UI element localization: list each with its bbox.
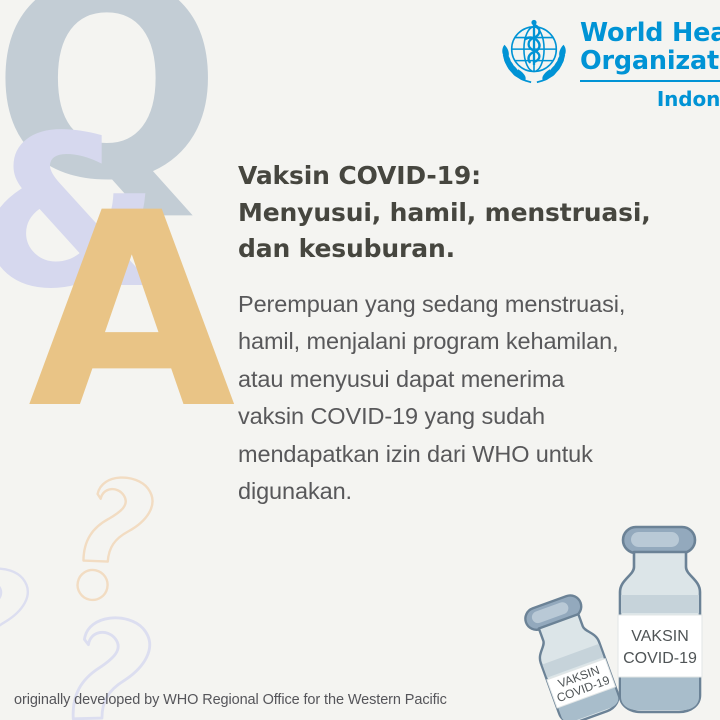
- question-mark-icon: [75, 472, 157, 608]
- qa-decoration: Q & A: [0, 0, 260, 430]
- vial-large-label-line1: VAKSIN: [631, 628, 689, 645]
- headline-line3: dan kesuburan.: [238, 231, 678, 268]
- who-wordmark: World Health Organization Indonesia: [580, 16, 720, 111]
- who-name-line1: World Health: [580, 20, 720, 48]
- copy-block: Vaksin COVID-19: Menyusui, hamil, menstr…: [238, 158, 678, 511]
- logo-divider: [580, 80, 720, 82]
- vial-small-label-line2: COVID-19: [555, 673, 612, 705]
- decorative-letter-ampersand: &: [0, 108, 161, 318]
- question-mark-decoration: [0, 455, 218, 720]
- body-text: Perempuan yang sedang menstruasi, hamil,…: [238, 286, 678, 512]
- decorative-letter-q: Q: [0, 0, 222, 218]
- page-title: Vaksin COVID-19: Menyusui, hamil, menstr…: [238, 158, 678, 268]
- body-line2: hamil, menjalani program kehamilan,: [238, 323, 678, 361]
- question-mark-icon: [0, 564, 31, 699]
- body-line1: Perempuan yang sedang menstruasi,: [238, 286, 678, 324]
- body-line3: atau menyusui dapat menerima: [238, 361, 678, 399]
- body-line6: digunakan.: [238, 473, 678, 511]
- who-logo: World Health Organization Indonesia: [498, 16, 720, 111]
- vaccine-vials-illustration: VAKSIN COVID-19 VAKSIN COVID-19: [505, 515, 720, 720]
- who-emblem-icon: [498, 16, 570, 88]
- footer-credit: originally developed by WHO Regional Off…: [14, 692, 447, 708]
- body-line5: mendapatkan izin dari WHO untuk: [238, 436, 678, 474]
- decorative-letter-a: A: [28, 178, 235, 446]
- body-line4: vaksin COVID-19 yang sudah: [238, 398, 678, 436]
- headline-line1: Vaksin COVID-19:: [238, 158, 678, 195]
- vaccine-vial-large: VAKSIN COVID-19: [618, 527, 702, 712]
- who-country-label: Indonesia: [580, 87, 720, 111]
- vaccine-vial-small: VAKSIN COVID-19: [522, 591, 622, 720]
- poster-canvas: Q & A: [0, 0, 720, 720]
- who-name-line2: Organization: [580, 48, 720, 76]
- vial-large-label-line2: COVID-19: [623, 650, 697, 667]
- vial-small-label-line1: VAKSIN: [556, 663, 601, 691]
- headline-line2: Menyusui, hamil, menstruasi,: [238, 195, 678, 232]
